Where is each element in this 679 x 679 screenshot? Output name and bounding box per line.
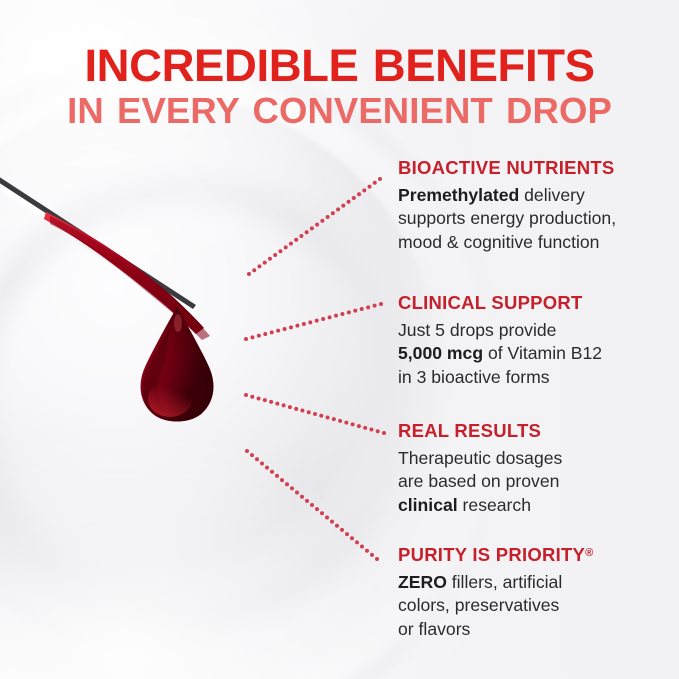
- benefit-body-line: are based on proven: [398, 470, 673, 493]
- benefit-block-2: CLINICAL SUPPORT Just 5 drops provide5,0…: [398, 292, 673, 389]
- benefit-title-1: BIOACTIVE NUTRIENTS: [398, 157, 673, 179]
- body-text: research: [458, 495, 531, 515]
- emphasis-text: Premethylated: [398, 185, 519, 205]
- registered-trademark-icon: ®: [585, 547, 593, 559]
- body-text: colors, preservatives: [398, 595, 559, 615]
- benefit-title-3: REAL RESULTS: [398, 420, 673, 442]
- benefit-title-4: PURITY IS PRIORITY®: [398, 544, 673, 566]
- benefit-body-3: Therapeutic dosagesare based on provencl…: [398, 447, 673, 517]
- red-liquid-droplet-icon: [134, 307, 220, 425]
- benefit-body-line: in 3 bioactive forms: [398, 366, 673, 389]
- benefit-body-line: supports energy production,: [398, 207, 673, 230]
- benefit-body-line: ZERO fillers, artificial: [398, 571, 673, 594]
- body-text: fillers, artificial: [447, 572, 562, 592]
- dropper-edge-line: [0, 168, 196, 309]
- benefit-body-line: clinical research: [398, 494, 673, 517]
- body-text: in 3 bioactive forms: [398, 367, 550, 387]
- benefit-block-4: PURITY IS PRIORITY® ZERO fillers, artifi…: [398, 544, 673, 641]
- benefit-title-2: CLINICAL SUPPORT: [398, 292, 673, 314]
- body-text: Just 5 drops provide: [398, 320, 556, 340]
- benefit-body-line: Therapeutic dosages: [398, 447, 673, 470]
- benefit-body-line: or flavors: [398, 618, 673, 641]
- benefit-body-line: Premethylated delivery: [398, 184, 673, 207]
- benefit-block-3: REAL RESULTS Therapeutic dosagesare base…: [398, 420, 673, 517]
- body-text: mood & cognitive function: [398, 232, 599, 252]
- droplet-tip-highlight: [174, 314, 182, 332]
- body-text: delivery: [519, 185, 585, 205]
- benefit-body-line: Just 5 drops provide: [398, 319, 673, 342]
- benefit-body-1: Premethylated deliverysupports energy pr…: [398, 184, 673, 254]
- body-text: supports energy production,: [398, 208, 616, 228]
- benefit-body-line: mood & cognitive function: [398, 231, 673, 254]
- body-text: are based on proven: [398, 471, 559, 491]
- body-text: of Vitamin B12: [483, 343, 602, 363]
- benefit-block-1: BIOACTIVE NUTRIENTS Premethylated delive…: [398, 157, 673, 254]
- benefit-body-line: 5,000 mcg of Vitamin B12: [398, 342, 673, 365]
- benefits-list: BIOACTIVE NUTRIENTS Premethylated delive…: [398, 0, 679, 679]
- emphasis-text: ZERO: [398, 572, 447, 592]
- body-text: or flavors: [398, 619, 470, 639]
- droplet-inner-glow: [148, 381, 192, 417]
- body-text: Therapeutic dosages: [398, 448, 562, 468]
- emphasis-text: clinical: [398, 495, 458, 515]
- benefit-body-4: ZERO fillers, artificialcolors, preserva…: [398, 571, 673, 641]
- benefit-body-2: Just 5 drops provide5,000 mcg of Vitamin…: [398, 319, 673, 389]
- benefit-body-line: colors, preservatives: [398, 594, 673, 617]
- emphasis-text: 5,000 mcg: [398, 343, 483, 363]
- benefits-infographic: INCREDIBLE BENEFITS IN EVERY CONVENIENT …: [0, 0, 679, 679]
